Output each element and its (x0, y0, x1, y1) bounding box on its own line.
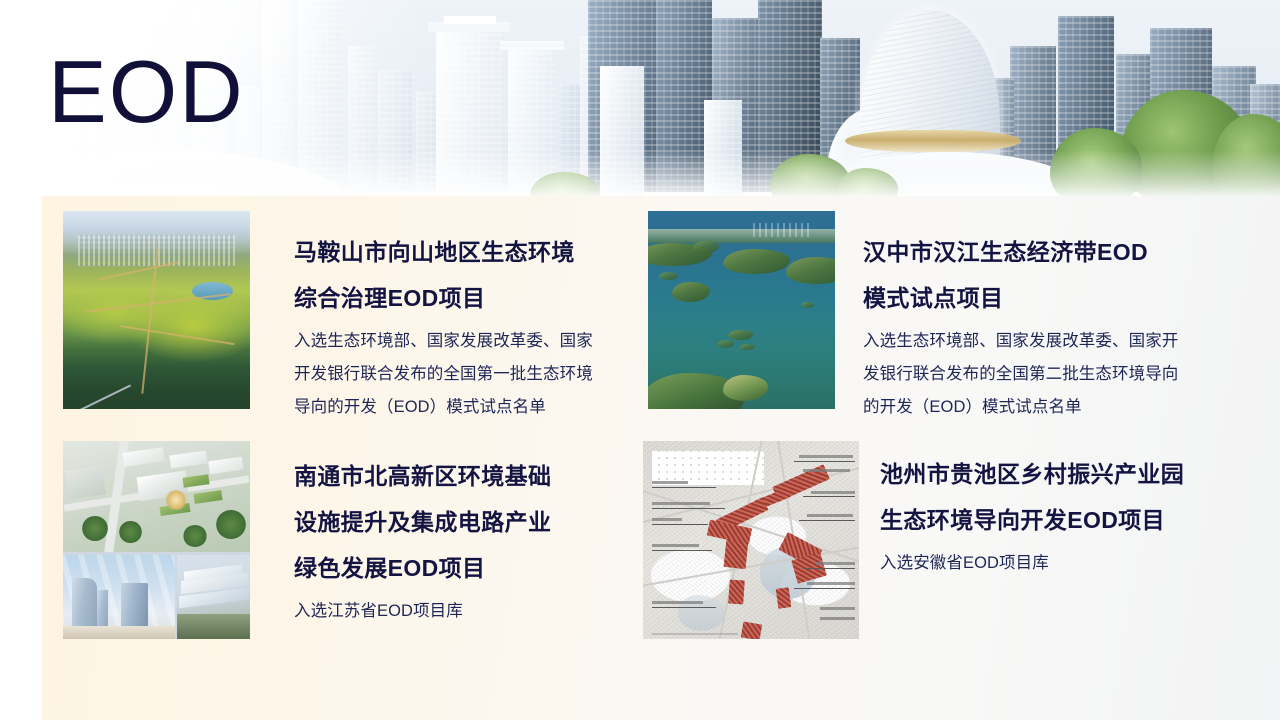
project-card-chizhou[interactable]: 池州市贵池区乡村振兴产业园 生态环境导向开发EOD项目 入选安徽省EOD项目库 (643, 441, 1243, 641)
card-title-line-2: 综合治理EOD项目 (294, 275, 593, 321)
card-desc-line-1: 入选生态环境部、国家发展改革委、国家开 (863, 325, 1178, 358)
card-title-line-1: 南通市北高新区环境基础 (294, 453, 551, 499)
card-title-line-3: 绿色发展EOD项目 (294, 545, 551, 591)
bottom-white-fade (0, 150, 1280, 196)
card-title-line-1: 池州市贵池区乡村振兴产业园 (880, 451, 1184, 497)
card-desc-line-1: 入选安徽省EOD项目库 (880, 547, 1184, 580)
card-desc-line-1: 入选江苏省EOD项目库 (294, 595, 551, 628)
project-card-nantong[interactable]: 南通市北高新区环境基础 设施提升及集成电路产业 绿色发展EOD项目 入选江苏省E… (63, 441, 623, 641)
thumbnail-lake-islands (648, 211, 835, 409)
thumbnail-aerial-green-landscape (63, 211, 250, 409)
card-title-line-1: 汉中市汉江生态经济带EOD (863, 229, 1178, 275)
thumbnail-industrial-park-composite (63, 441, 250, 639)
campus-aerial-sub-image (63, 441, 250, 552)
card-title-line-2: 生态环境导向开发EOD项目 (880, 497, 1184, 543)
page-title: EOD (48, 48, 245, 136)
card-title-line-2: 模式试点项目 (863, 275, 1178, 321)
project-card-maanshan[interactable]: 马鞍山市向山地区生态环境 综合治理EOD项目 入选生态环境部、国家发展改革委、国… (63, 211, 623, 411)
card-title-line-2: 设施提升及集成电路产业 (294, 499, 551, 545)
campus-building-sub-image (177, 555, 250, 639)
card-desc-line-2: 开发银行联合发布的全国第一批生态环境 (294, 358, 593, 391)
slide-canvas: EOD 马鞍山市向山地区生态环境 综合治理EOD项目 入选生态环境部、国家发展改… (0, 0, 1280, 720)
card-desc-line-3: 的开发（EOD）模式试点名单 (863, 391, 1178, 424)
card-title-line-1: 马鞍山市向山地区生态环境 (294, 229, 593, 275)
card-desc-line-3: 导向的开发（EOD）模式试点名单 (294, 391, 593, 424)
project-card-hanzhong[interactable]: 汉中市汉江生态经济带EOD 模式试点项目 入选生态环境部、国家发展改革委、国家开… (648, 211, 1248, 411)
campus-towers-sub-image (63, 555, 175, 639)
landmark-gold-band (845, 130, 1021, 152)
card-desc-line-2: 发银行联合发布的全国第二批生态环境导向 (863, 358, 1178, 391)
thumbnail-rural-planning-map (643, 441, 859, 639)
card-desc-line-1: 入选生态环境部、国家发展改革委、国家 (294, 325, 593, 358)
